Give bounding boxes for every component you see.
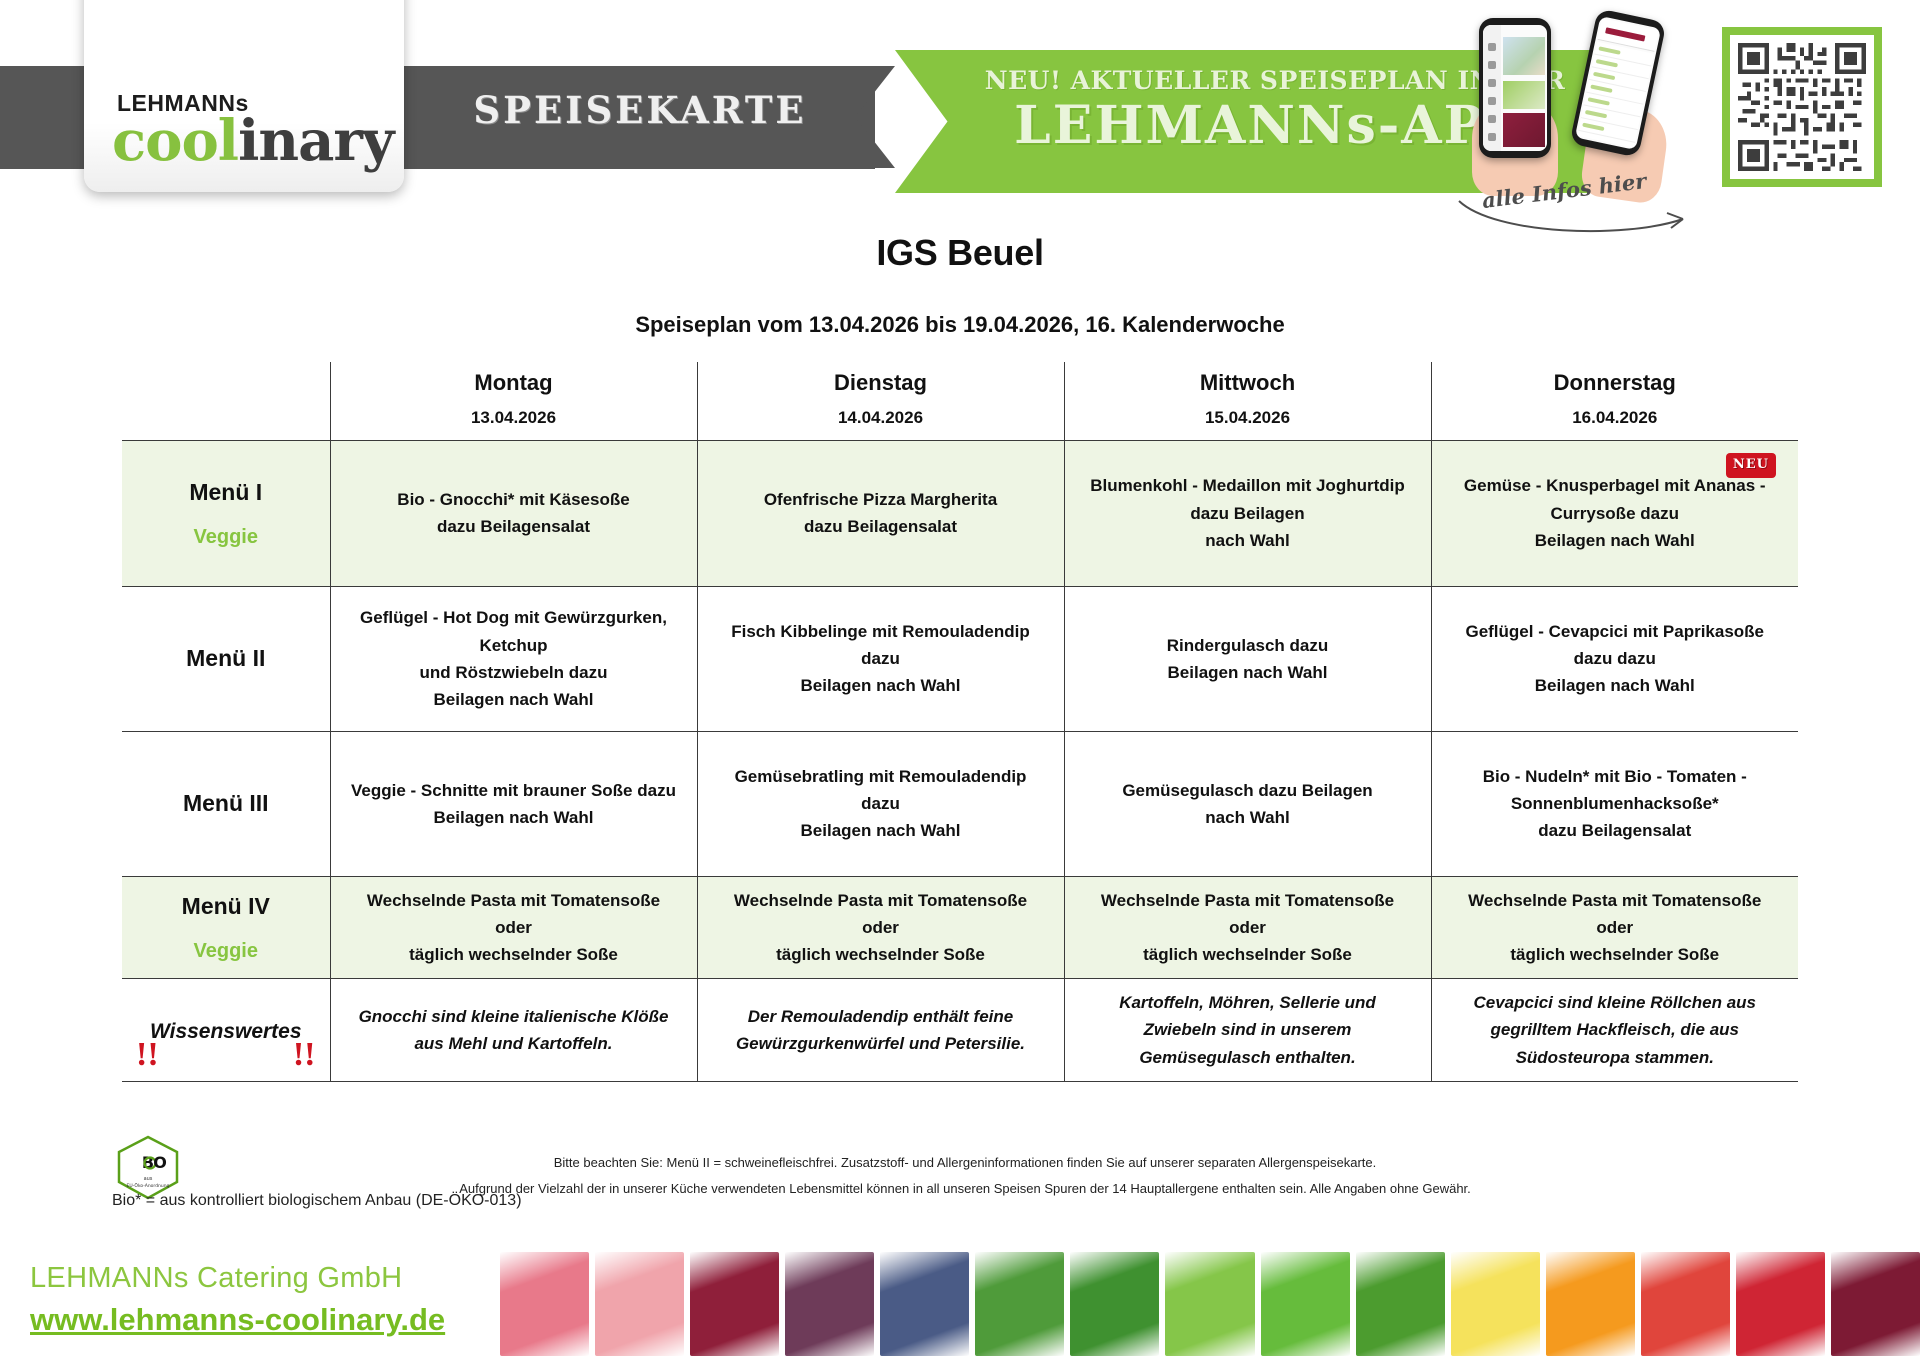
day-name: Donnerstag <box>1436 368 1795 398</box>
day-header-mittwoch: Mittwoch 15.04.2026 <box>1064 362 1431 440</box>
fruit-slice <box>975 1252 1064 1356</box>
menu-cell-1-donnerstag[interactable]: NEUGemüse - Knusperbagel mit Ananas - Cu… <box>1431 440 1798 586</box>
table-row-menu-3: Menü III Veggie - Schnitte mit brauner S… <box>122 731 1798 876</box>
fruit-slice <box>1165 1252 1254 1356</box>
row-label-menu-2: Menü II <box>122 586 330 731</box>
phone-nav-icon-info <box>1488 115 1496 123</box>
bio-footnote: Bio* = aus kontrolliert biologischem Anb… <box>112 1192 522 1210</box>
day-date: 14.04.2026 <box>702 408 1060 428</box>
phone-screen-home <box>1483 25 1547 151</box>
day-name: Mittwoch <box>1069 368 1427 398</box>
fruit-slice <box>1070 1252 1159 1356</box>
row-label-text: Menü IV <box>182 893 270 919</box>
phone-nav-icon-home <box>1488 43 1496 51</box>
phone-menu-list <box>1577 42 1654 148</box>
page-header: SPEISEKARTE LEHMANNs coolinary NEU! AKTU… <box>0 0 1920 230</box>
info-cell-montag: Gnocchi sind kleine italienische Klöße a… <box>330 979 697 1082</box>
menu-cell-2-dienstag[interactable]: Fisch Kibbelinge mit Remouladendip dazuB… <box>697 586 1064 731</box>
fruit-slice <box>880 1252 969 1356</box>
svg-text:aus: aus <box>144 1176 153 1182</box>
table-row-wissenswertes: !! Wissenswertes !! Gnocchi sind kleine … <box>122 979 1798 1082</box>
phone-nav-icon-menu <box>1488 79 1496 87</box>
menu-cell-2-donnerstag[interactable]: Geflügel - Cevapcici mit Paprikasoße daz… <box>1431 586 1798 731</box>
veggie-tag: Veggie <box>128 521 324 553</box>
fruit-slice <box>690 1252 779 1356</box>
speisekarte-band-tip <box>855 66 895 168</box>
curved-arrow-icon <box>1455 195 1695 235</box>
company-name: LEHMANNs Catering GmbH <box>30 1262 402 1295</box>
day-header-dienstag: Dienstag 14.04.2026 <box>697 362 1064 440</box>
veggie-tag: Veggie <box>128 935 324 967</box>
menu-cell-3-montag[interactable]: Veggie - Schnitte mit brauner Soße dazuB… <box>330 731 697 876</box>
menu-cell-2-montag[interactable]: Geflügel - Hot Dog mit Gewürzgurken, Ket… <box>330 586 697 731</box>
menu-cell-1-montag[interactable]: Bio - Gnocchi* mit Käsesoßedazu Beilagen… <box>330 440 697 586</box>
speiseplan-page: SPEISEKARTE LEHMANNs coolinary NEU! AKTU… <box>0 0 1920 1356</box>
menu-cell-4-mittwoch[interactable]: Wechselnde Pasta mit Tomatensoße odertäg… <box>1064 876 1431 979</box>
row-label-menu-1: Menü I Veggie <box>122 440 330 586</box>
info-cell-donnerstag: Cevapcici sind kleine Röllchen aus gegri… <box>1431 979 1798 1082</box>
row-label-text: Wissenswertes <box>150 1015 302 1049</box>
phone-nav-icon-contact <box>1488 133 1496 141</box>
info-cell-mittwoch: Kartoffeln, Möhren, Sellerie und Zwiebel… <box>1064 979 1431 1082</box>
fruit-photo-strip <box>500 1252 1920 1356</box>
row-label-text: Menü I <box>189 479 262 505</box>
fruit-slice <box>1356 1252 1445 1356</box>
day-date: 16.04.2026 <box>1436 408 1795 428</box>
speisekarte-label: SPEISEKARTE <box>440 88 840 132</box>
fruit-slice <box>1451 1252 1540 1356</box>
row-label-menu-4: Menü IV Veggie <box>122 876 330 979</box>
row-label-text: Menü III <box>183 790 269 816</box>
day-name: Dienstag <box>702 368 1060 398</box>
svg-text:O: O <box>153 1153 167 1172</box>
day-header-donnerstag: Donnerstag 16.04.2026 <box>1431 362 1798 440</box>
exclamation-icon-right: !! <box>293 1028 316 1082</box>
fruit-slice <box>1641 1252 1730 1356</box>
menu-cell-1-mittwoch[interactable]: Blumenkohl - Medaillon mit Joghurtdip da… <box>1064 440 1431 586</box>
day-header-montag: Montag 13.04.2026 <box>330 362 697 440</box>
qr-code-icon <box>1738 43 1866 171</box>
menu-cell-2-mittwoch[interactable]: Rindergulasch dazuBeilagen nach Wahl <box>1064 586 1431 731</box>
menu-cell-3-mittwoch[interactable]: Gemüsegulasch dazu Beilagennach Wahl <box>1064 731 1431 876</box>
logo-coolinary-text: coolinary <box>112 108 393 174</box>
table-corner-cell <box>122 362 330 440</box>
week-range-label: Speiseplan vom 13.04.2026 bis 19.04.2026… <box>0 312 1920 338</box>
table-row-menu-1: Menü I Veggie Bio - Gnocchi* mit Käsesoß… <box>122 440 1798 586</box>
row-label-wissenswertes: !! Wissenswertes !! <box>122 979 330 1082</box>
logo-cool-part: cool <box>112 108 238 174</box>
row-label-menu-3: Menü III <box>122 731 330 876</box>
day-date: 13.04.2026 <box>335 408 693 428</box>
qr-code-inner <box>1730 35 1874 179</box>
logo-inary-part: inary <box>238 108 393 174</box>
menu-cell-4-donnerstag[interactable]: Wechselnde Pasta mit Tomatensoße odertäg… <box>1431 876 1798 979</box>
svg-text:EU-Öko-Anordnung: EU-Öko-Anordnung <box>127 1182 170 1189</box>
menu-cell-1-dienstag[interactable]: Ofenfrische Pizza Margheritadazu Beilage… <box>697 440 1064 586</box>
qr-code-frame[interactable] <box>1722 27 1882 187</box>
page-title: IGS Beuel <box>0 232 1920 274</box>
table-row-menu-4: Menü IV Veggie Wechselnde Pasta mit Toma… <box>122 876 1798 979</box>
row-label-text: Menü II <box>186 645 265 671</box>
neu-badge: NEU <box>1726 453 1776 479</box>
menu-cell-3-donnerstag[interactable]: Bio - Nudeln* mit Bio - Tomaten - Sonnen… <box>1431 731 1798 876</box>
brand-logo-card: LEHMANNs coolinary <box>84 0 404 192</box>
weekly-menu-table: Montag 13.04.2026 Dienstag 14.04.2026 Mi… <box>122 362 1798 1082</box>
fruit-slice <box>1831 1252 1920 1356</box>
phone-promo-image <box>1503 81 1545 109</box>
note-line-1: Bitte beachten Sie: Menü II = schweinefl… <box>300 1150 1630 1176</box>
day-date: 15.04.2026 <box>1069 408 1427 428</box>
phone-nav-icon-school <box>1488 61 1496 69</box>
day-name: Montag <box>335 368 693 398</box>
phone-mockup-home <box>1479 18 1551 158</box>
website-link[interactable]: www.lehmanns-coolinary.de <box>30 1302 445 1338</box>
menu-cell-3-dienstag[interactable]: Gemüsebratling mit Remouladendip dazuBei… <box>697 731 1064 876</box>
info-cell-dienstag: Der Remouladendip enthält feine Gewürzgu… <box>697 979 1064 1082</box>
fruit-slice <box>1736 1252 1825 1356</box>
menu-cell-4-montag[interactable]: Wechselnde Pasta mit Tomatensoße odertäg… <box>330 876 697 979</box>
fruit-slice <box>785 1252 874 1356</box>
fruit-slice <box>1546 1252 1635 1356</box>
fruit-slice <box>500 1252 589 1356</box>
phone-nav-icon-news <box>1488 97 1496 105</box>
phone-hero-image <box>1503 37 1545 75</box>
table-header-row: Montag 13.04.2026 Dienstag 14.04.2026 Mi… <box>122 362 1798 440</box>
fruit-slice <box>595 1252 684 1356</box>
table-row-menu-2: Menü II Geflügel - Hot Dog mit Gewürzgur… <box>122 586 1798 731</box>
exclamation-icon-left: !! <box>136 1028 159 1082</box>
phone-footer-image <box>1503 113 1545 147</box>
menu-cell-4-dienstag[interactable]: Wechselnde Pasta mit Tomatensoße odertäg… <box>697 876 1064 979</box>
fruit-slice <box>1261 1252 1350 1356</box>
